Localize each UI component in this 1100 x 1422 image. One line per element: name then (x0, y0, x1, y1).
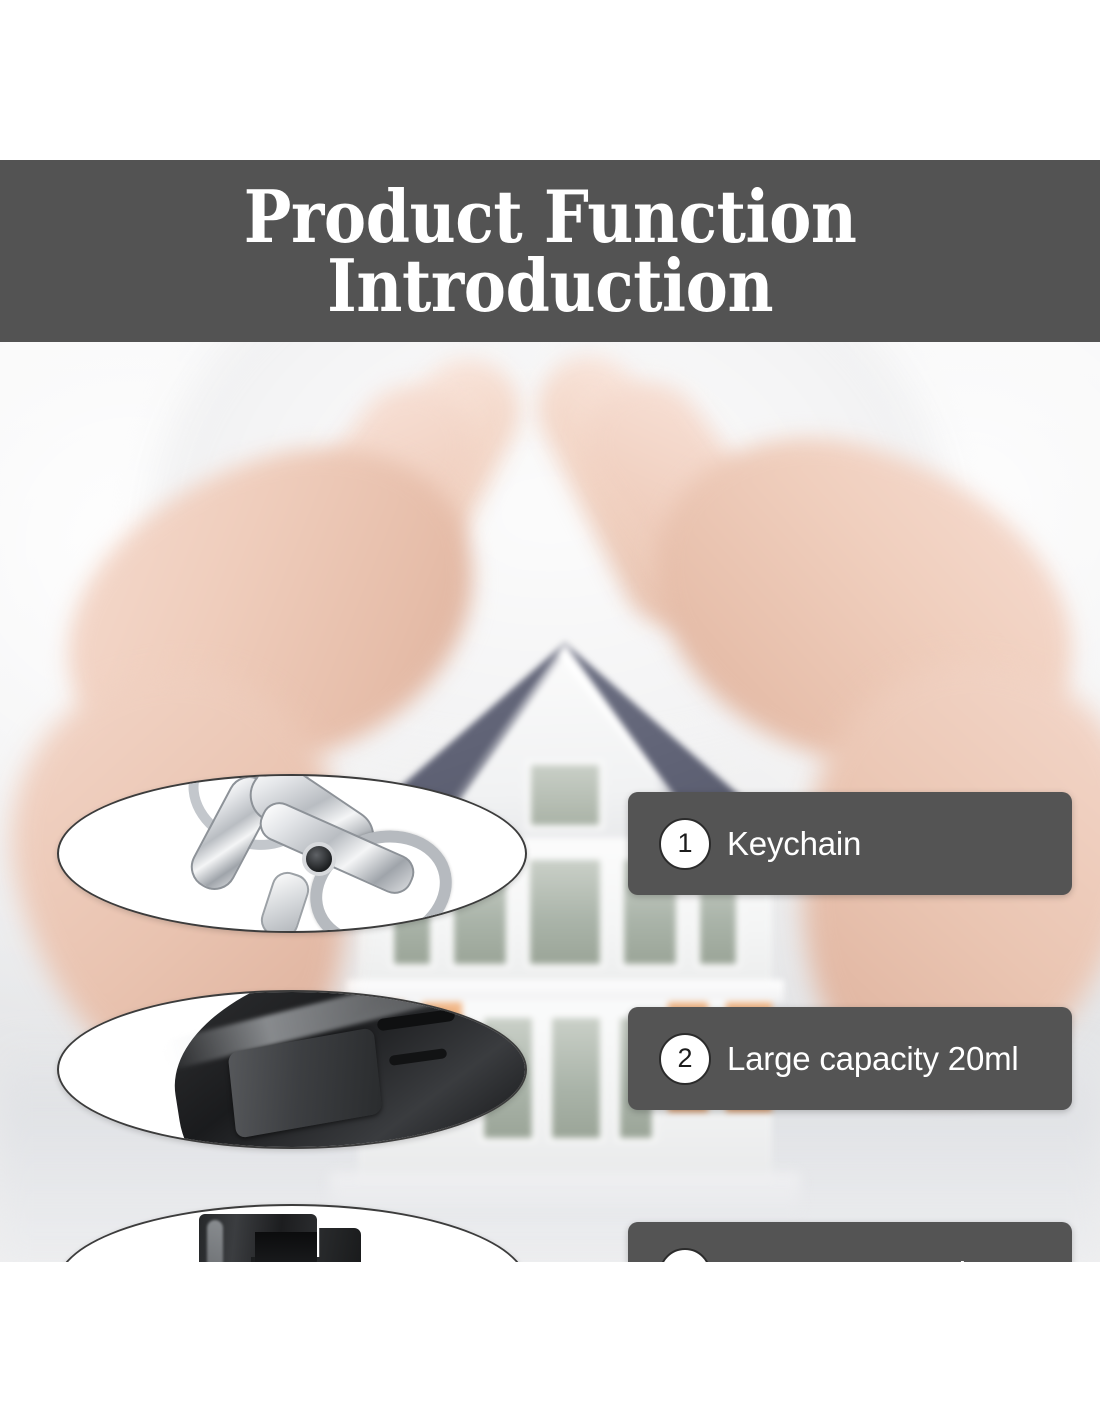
feature-callout-2[interactable]: 2 Large capacity 20ml (628, 1007, 1072, 1110)
feature-number-badge-1: 1 (659, 818, 711, 870)
keychain-lever (257, 868, 314, 933)
page-title: Product Function Introduction (226, 182, 874, 320)
feature-callout-3[interactable]: 3 Press type nozzle (628, 1222, 1072, 1262)
background-photo: 1 Keychain 2 Large capacity 20ml 3 Press… (0, 342, 1100, 1262)
nozzle-photo (59, 1206, 525, 1262)
feature-callout-1[interactable]: 1 Keychain (628, 792, 1072, 895)
infographic-page: Product Function Introduction (0, 0, 1100, 1422)
feature-label-2: Large capacity 20ml (727, 1040, 1019, 1078)
nozzle-highlight (207, 1220, 223, 1262)
keychain-pivot-rivet (302, 842, 336, 876)
header-banner: Product Function Introduction (0, 160, 1100, 342)
feature-label-3: Press type nozzle (727, 1255, 984, 1263)
detail-oval-nozzle (57, 1204, 527, 1262)
gable-window (526, 760, 604, 830)
detail-oval-capacity (57, 990, 527, 1149)
feature-label-1: Keychain (727, 825, 861, 863)
window-lower-2 (548, 1014, 604, 1142)
nozzle-notch (255, 1232, 317, 1262)
feature-number-badge-2: 2 (659, 1033, 711, 1085)
keychain-photo (59, 776, 525, 931)
window-upper-3 (526, 856, 604, 968)
detail-oval-keychain (57, 774, 527, 933)
bottle-body-photo (59, 992, 525, 1147)
feature-number-badge-3: 3 (659, 1248, 711, 1263)
